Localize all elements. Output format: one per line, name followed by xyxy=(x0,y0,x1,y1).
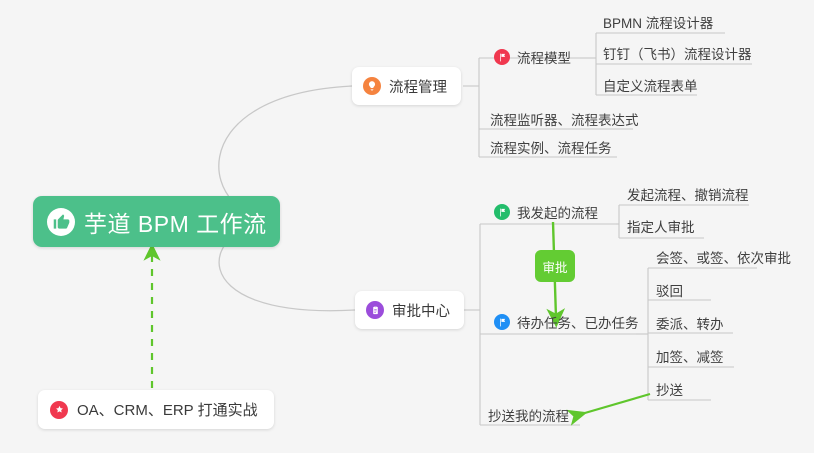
leaf-process-instance[interactable]: 流程实例、流程任务 xyxy=(490,135,612,159)
lightbulb-icon xyxy=(363,77,381,95)
leaf-cc-to-me[interactable]: 抄送我的流程 xyxy=(488,403,569,427)
leaf-countersign[interactable]: 会签、或签、依次审批 xyxy=(656,245,791,269)
annotation-chip-approval: 审批 xyxy=(535,250,575,282)
flag-icon xyxy=(494,314,510,330)
leaf-assignee-approval[interactable]: 指定人审批 xyxy=(627,214,695,238)
leaf-add-remove-sign[interactable]: 加签、减签 xyxy=(656,344,724,368)
branch-label: 审批中心 xyxy=(392,300,450,321)
note-label: OA、CRM、ERP 打通实战 xyxy=(77,399,258,420)
leaf-bpmn-designer[interactable]: BPMN 流程设计器 xyxy=(603,10,713,34)
leaf-custom-form[interactable]: 自定义流程表单 xyxy=(603,73,698,97)
leaf-reject[interactable]: 驳回 xyxy=(656,278,683,302)
leaf-cc[interactable]: 抄送 xyxy=(656,377,683,401)
clipboard-icon xyxy=(366,301,384,319)
flag-icon xyxy=(494,49,510,65)
node-label: 我发起的流程 xyxy=(517,202,598,222)
thumbs-up-icon xyxy=(47,208,75,236)
branch-label: 流程管理 xyxy=(389,76,447,97)
note-node-integration[interactable]: OA、CRM、ERP 打通实战 xyxy=(38,390,274,429)
node-my-initiated[interactable]: 我发起的流程 xyxy=(494,199,598,225)
flag-icon xyxy=(494,204,510,220)
star-icon xyxy=(50,401,68,419)
node-label: 待办任务、已办任务 xyxy=(517,312,639,332)
branch-node-approval-center[interactable]: 审批中心 xyxy=(355,291,464,329)
mindmap-canvas: 芋道 BPM 工作流 流程管理 流程模型 BPMN 流程设计器 钉钉（飞书）流程… xyxy=(0,0,814,453)
root-node[interactable]: 芋道 BPM 工作流 xyxy=(33,196,280,247)
chip-label: 审批 xyxy=(542,257,567,276)
leaf-dingtalk-designer[interactable]: 钉钉（飞书）流程设计器 xyxy=(603,41,752,65)
node-todo-done-tasks[interactable]: 待办任务、已办任务 xyxy=(494,309,639,335)
root-label: 芋道 BPM 工作流 xyxy=(84,205,267,239)
node-label: 流程模型 xyxy=(517,47,571,67)
leaf-process-listener[interactable]: 流程监听器、流程表达式 xyxy=(490,107,639,131)
leaf-delegate-transfer[interactable]: 委派、转办 xyxy=(656,311,724,335)
leaf-start-cancel-process[interactable]: 发起流程、撤销流程 xyxy=(627,182,749,206)
branch-node-process-management[interactable]: 流程管理 xyxy=(352,67,461,105)
node-process-model[interactable]: 流程模型 xyxy=(494,44,571,70)
